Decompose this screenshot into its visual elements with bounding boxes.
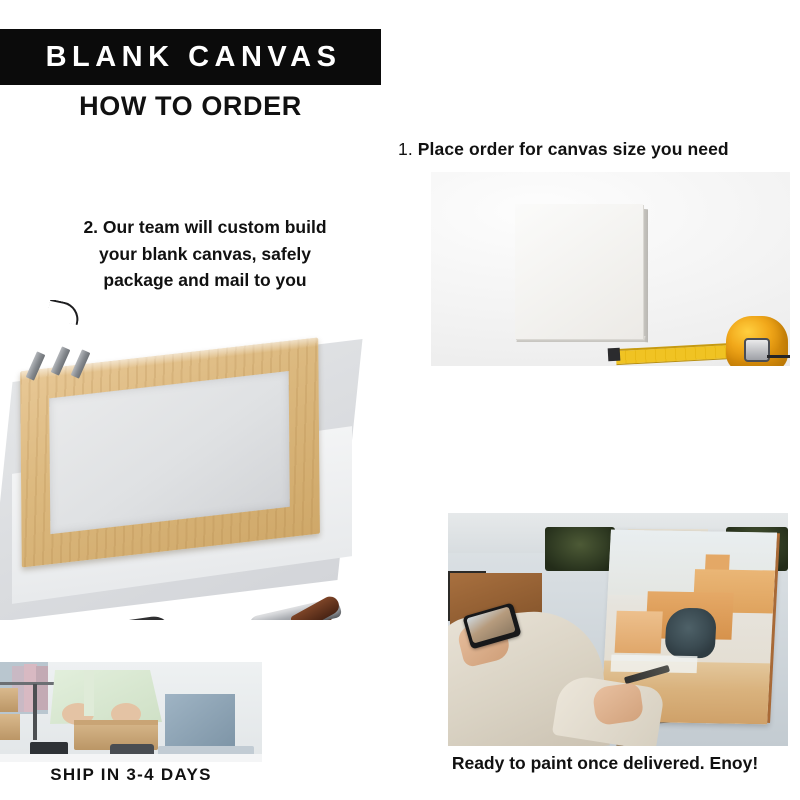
step-2-caption: 2. Our team will custom build your blank… <box>30 214 380 294</box>
blank-canvas-front <box>515 204 643 339</box>
ship-time-label: SHIP IN 3-4 DAYS <box>0 765 262 785</box>
step-1-text: Place order for canvas size you need <box>418 139 729 159</box>
infographic-page: BLANK CANVAS HOW TO ORDER 1. Place order… <box>0 0 800 800</box>
step-3-caption: Ready to paint once delivered. Enoy! <box>420 753 790 774</box>
frame-inner-canvas <box>49 371 290 534</box>
title-banner: BLANK CANVAS <box>0 29 381 85</box>
step-2-line-1: 2. Our team will custom build <box>30 214 380 241</box>
stacked-box-1 <box>0 688 18 712</box>
step-3-photo-artist-painting <box>448 513 788 746</box>
tape-measure-tool <box>116 618 172 620</box>
shipping-photo-packing <box>0 662 262 762</box>
tape-measure-hook <box>608 348 621 362</box>
step-2-line-2: your blank canvas, safely <box>30 241 380 268</box>
packer-arm <box>84 670 94 716</box>
hanging-plant-left <box>545 527 615 571</box>
painting-building-left <box>615 610 664 653</box>
brand-title: BLANK CANVAS <box>40 43 342 72</box>
tape-measure-wrist-cord <box>46 300 81 325</box>
step-1-caption: 1. Place order for canvas size you need <box>398 139 790 160</box>
step-2-line-3: package and mail to you <box>30 267 380 294</box>
step-1-photo-blank-canvas <box>431 172 790 366</box>
tape-measure-case <box>114 614 174 620</box>
hanging-garment-3 <box>36 666 48 710</box>
clothing-rack <box>0 682 60 685</box>
wooden-stretcher-frame <box>20 337 320 567</box>
box-flap <box>74 720 158 725</box>
laptop-screen <box>165 694 235 750</box>
rack-post <box>33 684 37 740</box>
tape-measure-strap <box>767 339 790 358</box>
desk-surface <box>0 754 262 762</box>
calculator <box>30 742 68 756</box>
staple-gun-tool <box>242 595 354 620</box>
painting-dark-figure <box>664 607 716 658</box>
page-subtitle: HOW TO ORDER <box>0 90 381 122</box>
step-2-photo-stretcher-frame <box>0 300 448 620</box>
stacked-box-2 <box>0 714 20 740</box>
step-1-number: 1. <box>398 139 413 159</box>
